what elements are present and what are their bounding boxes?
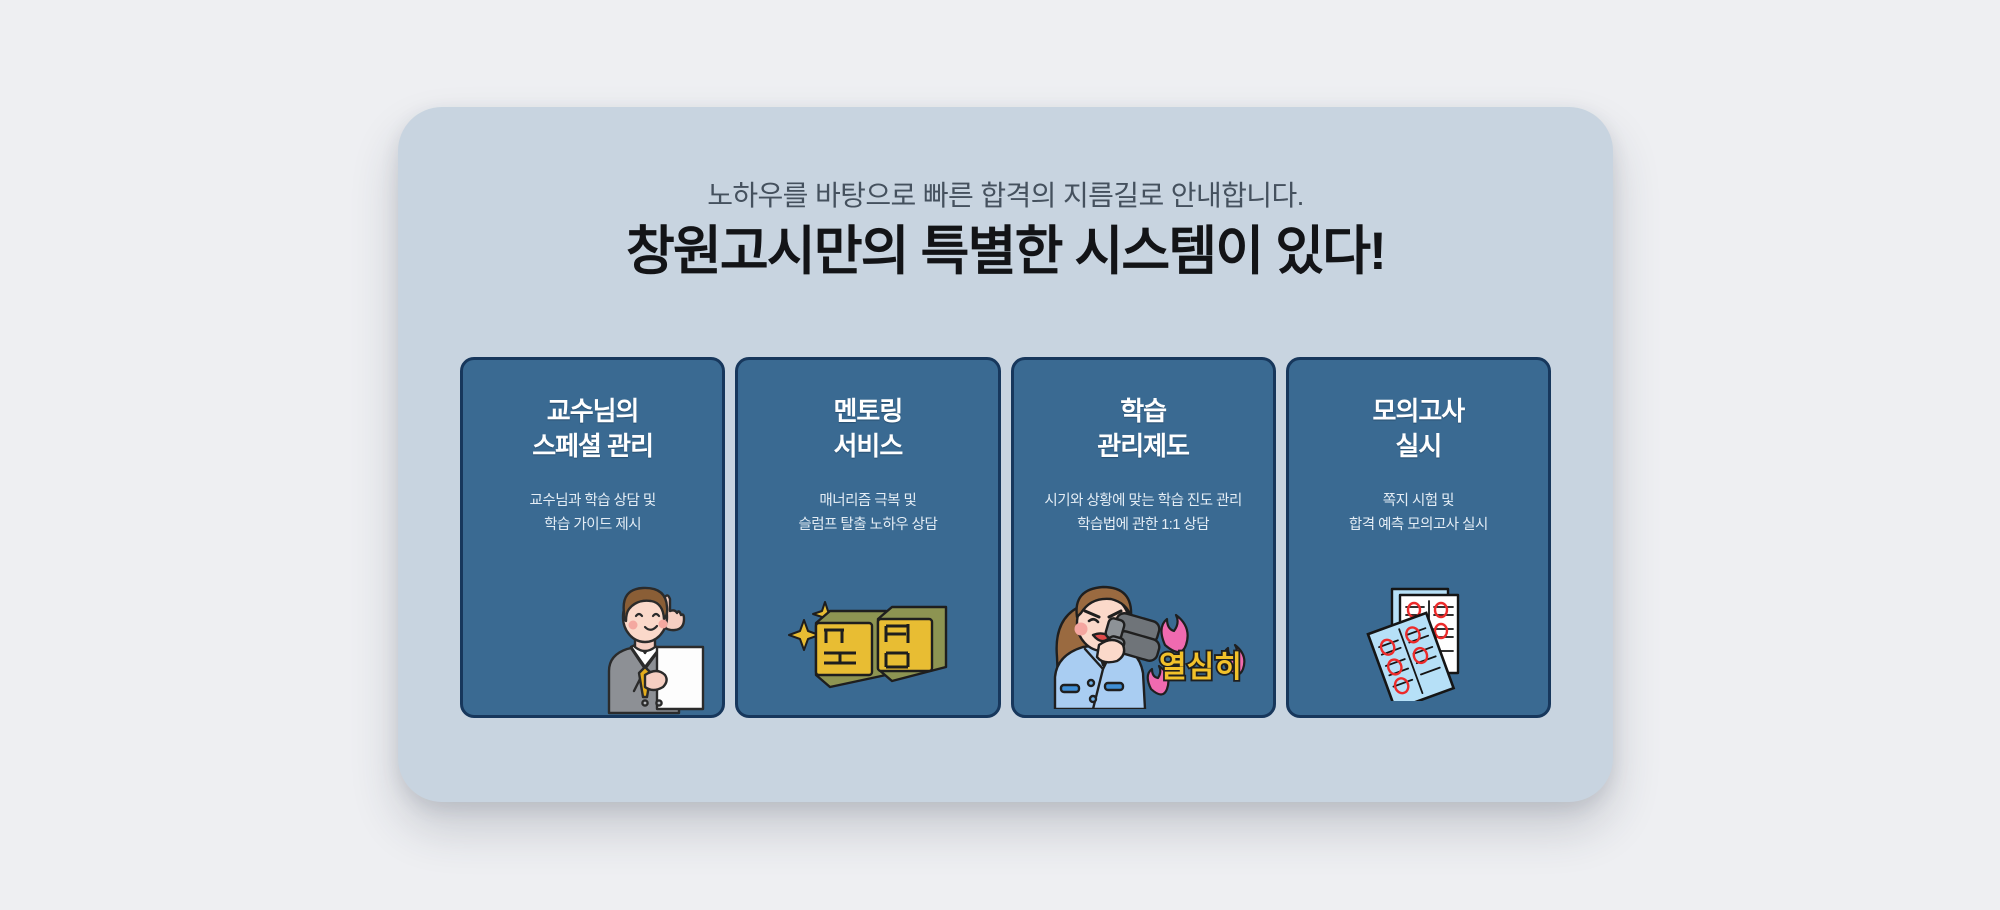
card-description: 쪽지 시험 및 합격 예측 모의고사 실시: [1289, 490, 1548, 538]
card-description: 시기와 상황에 맞는 학습 진도 관리 학습법에 관한 1:1 상담: [1014, 490, 1273, 538]
card-illustration: [463, 563, 722, 715]
svg-text:열심히: 열심히: [1159, 651, 1242, 684]
woman-with-binoculars-icon: 열심히: [1041, 573, 1247, 709]
card-header: 교수님의 스페셜 관리 교수님과 학습 상담 및 학습 가이드 제시: [463, 360, 722, 538]
card-header: 멘토링 서비스 매너리즘 극복 및 슬럼프 탈출 노하우 상담: [738, 360, 997, 538]
feature-card-mentoring-service[interactable]: 멘토링 서비스 매너리즘 극복 및 슬럼프 탈출 노하우 상담: [735, 357, 1000, 718]
graded-exam-papers-icon: [1356, 583, 1486, 701]
illustration-caption: 열심히: [1159, 651, 1242, 684]
panel-title: 창원고시만의 특별한 시스템이 있다!: [398, 219, 1613, 285]
card-header: 모의고사 실시 쪽지 시험 및 합격 예측 모의고사 실시: [1289, 360, 1548, 538]
feature-card-mock-exam[interactable]: 모의고사 실시 쪽지 시험 및 합격 예측 모의고사 실시: [1286, 357, 1551, 718]
card-description: 매너리즘 극복 및 슬럼프 탈출 노하우 상담: [738, 490, 997, 538]
panel-subtitle: 노하우를 바탕으로 빠른 합격의 지름길로 안내합니다.: [398, 179, 1613, 213]
card-illustration: [738, 563, 997, 715]
feature-card-study-management-system[interactable]: 학습 관리제도 시기와 상황에 맞는 학습 진도 관리 학습법에 관한 1:1 …: [1011, 357, 1276, 718]
feature-card-professor-special-care[interactable]: 교수님의 스페셜 관리 교수님과 학습 상담 및 학습 가이드 제시: [460, 357, 725, 718]
card-header: 학습 관리제도 시기와 상황에 맞는 학습 진도 관리 학습법에 관한 1:1 …: [1014, 360, 1273, 538]
professor-pointing-with-clipboard-icon: [571, 575, 721, 715]
card-description: 교수님과 학습 상담 및 학습 가이드 제시: [463, 490, 722, 538]
card-title: 학습 관리제도: [1014, 394, 1273, 464]
honey-tip-3d-text-icon: [786, 593, 956, 693]
feature-card-list: 교수님의 스페셜 관리 교수님과 학습 상담 및 학습 가이드 제시: [460, 357, 1551, 718]
card-illustration: [1289, 563, 1548, 715]
card-title: 멘토링 서비스: [738, 394, 997, 464]
card-title: 교수님의 스페셜 관리: [463, 394, 722, 464]
panel-header: 노하우를 바탕으로 빠른 합격의 지름길로 안내합니다. 창원고시만의 특별한 …: [398, 179, 1613, 285]
card-illustration: 열심히: [1014, 563, 1273, 715]
card-title: 모의고사 실시: [1289, 394, 1548, 464]
page-root: 노하우를 바탕으로 빠른 합격의 지름길로 안내합니다. 창원고시만의 특별한 …: [0, 0, 2000, 910]
promo-panel: 노하우를 바탕으로 빠른 합격의 지름길로 안내합니다. 창원고시만의 특별한 …: [398, 107, 1613, 802]
